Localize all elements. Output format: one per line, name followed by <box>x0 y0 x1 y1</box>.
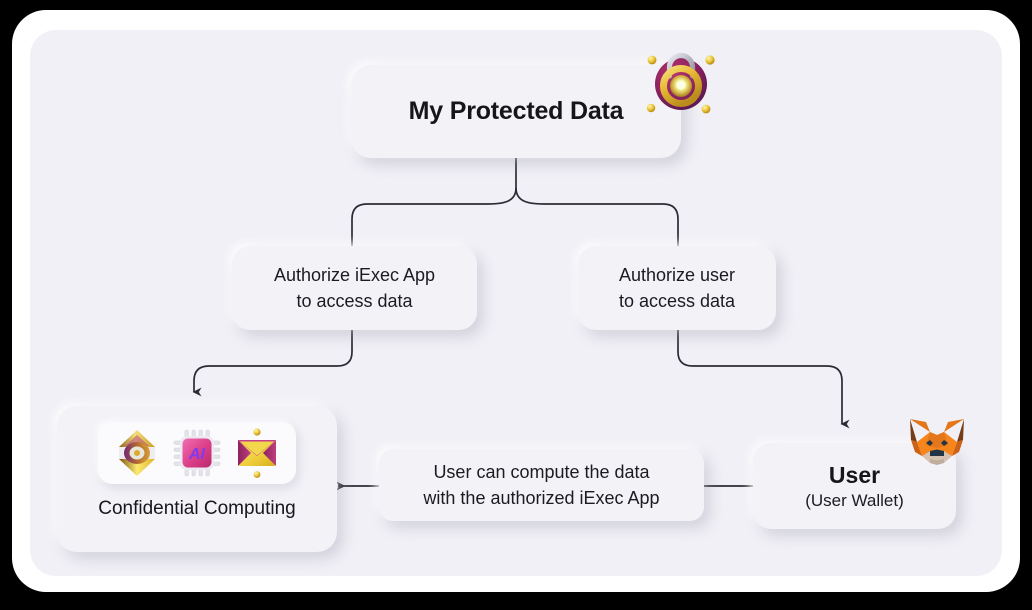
node-user-can-compute[interactable]: User can compute the data with the autho… <box>379 449 704 521</box>
node-line-2: to access data <box>619 288 735 314</box>
confidential-computing-caption: Confidential Computing <box>98 498 296 520</box>
node-line-1: Authorize user <box>619 262 735 288</box>
diagram-stage: My Protected Data <box>0 0 1032 610</box>
envelope-icon <box>231 427 283 479</box>
svg-text:AI: AI <box>188 446 206 463</box>
metamask-fox-icon <box>906 415 968 471</box>
node-title: User <box>829 461 880 489</box>
protected-data-gem-icon <box>111 427 163 479</box>
node-subtitle: (User Wallet) <box>805 489 904 512</box>
node-authorize-user[interactable]: Authorize user to access data <box>578 246 776 330</box>
node-line-2: with the authorized iExec App <box>423 485 659 511</box>
node-authorize-iexec-app[interactable]: Authorize iExec App to access data <box>232 246 477 330</box>
node-confidential-computing[interactable]: AI <box>57 406 337 552</box>
node-title: My Protected Data <box>409 97 624 126</box>
node-line-1: Authorize iExec App <box>274 262 435 288</box>
node-line-1: User can compute the data <box>433 459 649 485</box>
node-line-2: to access data <box>296 288 412 314</box>
padlock-icon <box>644 48 718 122</box>
confidential-icon-tray: AI <box>98 422 296 484</box>
ai-chip-icon: AI <box>171 427 223 479</box>
node-my-protected-data[interactable]: My Protected Data <box>351 65 681 158</box>
